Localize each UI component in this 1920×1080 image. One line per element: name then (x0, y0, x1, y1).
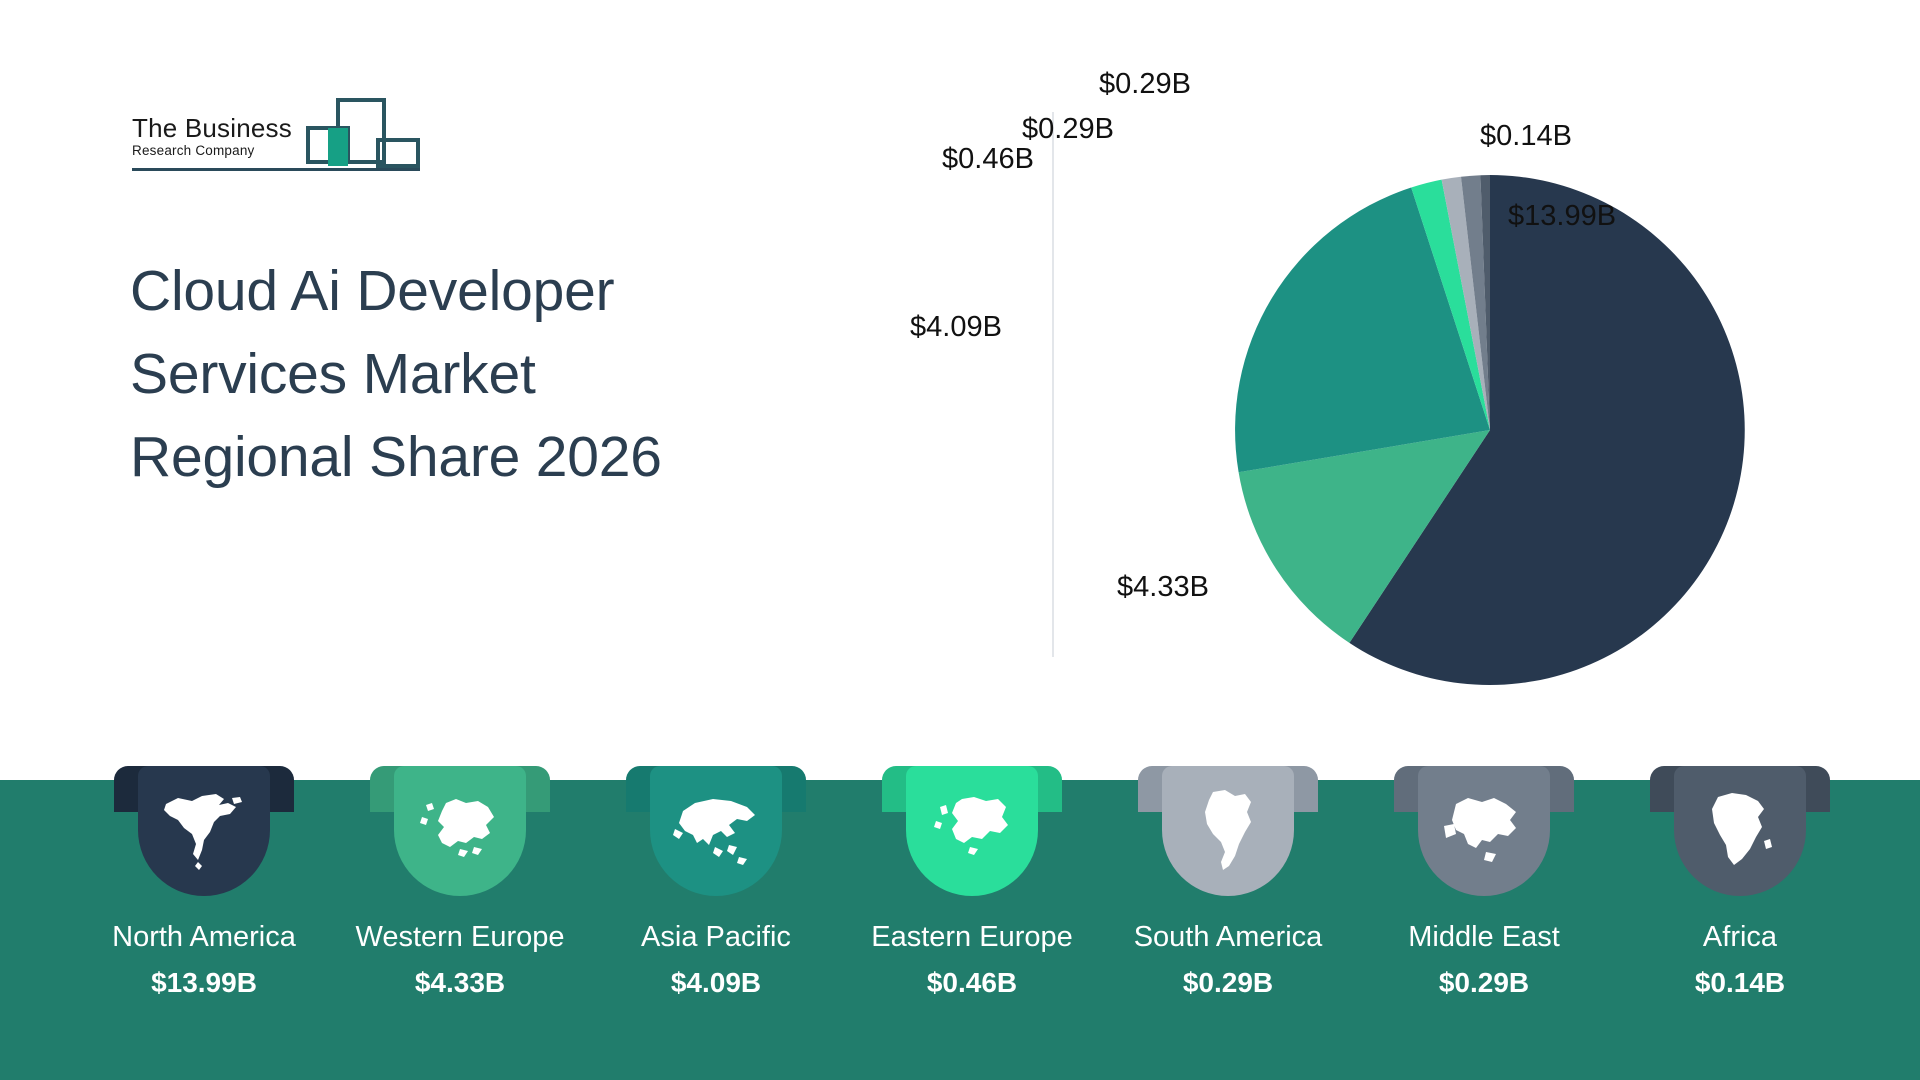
pie-label-north-america: $13.99B (1508, 200, 1616, 233)
vertical-divider (1052, 112, 1054, 657)
title-line-2: Services Market (130, 333, 850, 416)
badge-shield (138, 766, 270, 896)
asia-pacific-map-icon (669, 789, 763, 873)
pie-label-asia-pacific: $4.09B (910, 311, 1002, 344)
western-europe-map-icon (416, 791, 504, 871)
badge-north-america (114, 766, 294, 896)
page-title: Cloud Ai Developer Services Market Regio… (130, 250, 850, 500)
pie-label-south-america: $0.29B (1022, 113, 1114, 146)
title-line-1: Cloud Ai Developer (130, 250, 850, 333)
badge-shield (906, 766, 1038, 896)
badge-asia-pacific (626, 766, 806, 896)
eastern-europe-map-icon (928, 791, 1016, 871)
pie-label-middle-east: $0.29B (1099, 68, 1191, 101)
pie-chart: $13.99B $4.33B $4.09B $0.46B $0.29B $0.2… (1090, 30, 1890, 730)
south-america-map-icon (1191, 786, 1265, 876)
badge-south-america (1138, 766, 1318, 896)
region-value: $0.14B (1610, 968, 1870, 999)
middle-east-map-icon (1438, 790, 1530, 872)
region-name: North America (74, 922, 334, 954)
africa-map-icon (1702, 787, 1778, 875)
region-value: $4.33B (330, 968, 590, 999)
legend-item-eastern-europe[interactable]: Eastern Europe $0.46B (842, 766, 1102, 999)
legend-item-western-europe[interactable]: Western Europe $4.33B (330, 766, 590, 999)
brand-logo[interactable]: The Business Research Company (132, 96, 422, 180)
badge-shield (394, 766, 526, 896)
pie-label-africa: $0.14B (1480, 120, 1572, 153)
badge-shield (1162, 766, 1294, 896)
infographic-canvas: The Business Research Company Cloud Ai D… (0, 0, 1920, 1080)
badge-shield (650, 766, 782, 896)
legend-item-south-america[interactable]: South America $0.29B (1098, 766, 1358, 999)
pie-label-eastern-europe: $0.46B (942, 143, 1034, 176)
region-name: Western Europe (330, 922, 590, 954)
region-value: $4.09B (586, 968, 846, 999)
pie-label-western-europe: $4.33B (1117, 571, 1209, 604)
legend-item-asia-pacific[interactable]: Asia Pacific $4.09B (586, 766, 846, 999)
badge-middle-east (1394, 766, 1574, 896)
logo-underline (132, 168, 420, 171)
title-line-3: Regional Share 2026 (130, 416, 850, 499)
region-value: $0.29B (1098, 968, 1358, 999)
region-name: Middle East (1354, 922, 1614, 954)
badge-shield (1674, 766, 1806, 896)
badge-africa (1650, 766, 1830, 896)
badge-shield (1418, 766, 1550, 896)
legend-item-middle-east[interactable]: Middle East $0.29B (1354, 766, 1614, 999)
region-name: Eastern Europe (842, 922, 1102, 954)
badge-eastern-europe (882, 766, 1062, 896)
region-value: $0.29B (1354, 968, 1614, 999)
north-america-map-icon (158, 788, 250, 874)
legend-item-north-america[interactable]: North America $13.99B (74, 766, 334, 999)
region-name: Africa (1610, 922, 1870, 954)
legend-item-africa[interactable]: Africa $0.14B (1610, 766, 1870, 999)
region-legend: North America $13.99B Western Europe $4.… (0, 750, 1920, 1080)
region-name: South America (1098, 922, 1358, 954)
region-value: $0.46B (842, 968, 1102, 999)
region-value: $13.99B (74, 968, 334, 999)
region-name: Asia Pacific (586, 922, 846, 954)
badge-western-europe (370, 766, 550, 896)
